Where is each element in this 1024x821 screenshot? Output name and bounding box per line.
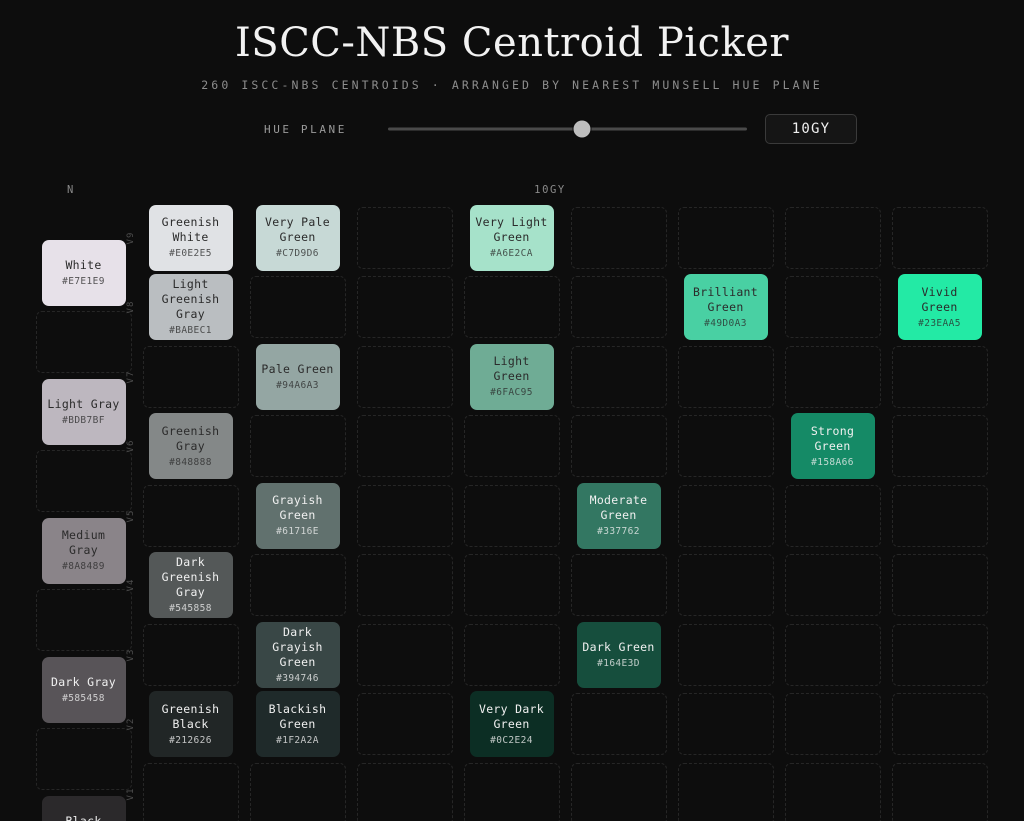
empty-cell — [571, 554, 667, 616]
page-title: ISCC-NBS Centroid Picker — [0, 18, 1024, 68]
empty-cell — [36, 589, 132, 651]
swatch-hex: #8A8489 — [62, 561, 105, 573]
swatch-hex: #1F2A2A — [276, 735, 319, 747]
swatch-name: Light Gray — [47, 397, 119, 412]
swatch-name: Dark Greenish Gray — [154, 555, 228, 600]
swatch-name: White — [65, 258, 101, 273]
swatch-hex: #49D0A3 — [704, 318, 747, 330]
empty-cell — [678, 554, 774, 616]
empty-cell — [892, 346, 988, 408]
empty-cell — [250, 415, 346, 477]
swatch-name: Dark Gray — [51, 675, 116, 690]
page-header: ISCC-NBS Centroid Picker 260 ISCC-NBS CE… — [0, 0, 1024, 92]
empty-cell — [678, 207, 774, 269]
grid-column-headers: N10GY — [30, 184, 988, 203]
swatch-name: Dark Green — [582, 640, 654, 655]
empty-cell — [36, 728, 132, 790]
grid-body: V9V8V7V6V5V4V3V2V1White#E7E1E9Light Gray… — [30, 203, 988, 804]
swatch-name: Blackish Green — [261, 702, 335, 732]
swatch-hex: #BDB7BF — [62, 415, 105, 427]
empty-cell — [357, 485, 453, 547]
centroid-grid: N10GY V9V8V7V6V5V4V3V2V1White#E7E1E9Ligh… — [30, 184, 988, 804]
grid-row-label-v9: V9 — [126, 231, 136, 244]
grid-row-label-v5: V5 — [126, 509, 136, 522]
empty-cell — [785, 554, 881, 616]
empty-cell — [785, 485, 881, 547]
swatch-hex: #BABEC1 — [169, 325, 212, 337]
empty-cell — [678, 485, 774, 547]
color-swatch[interactable]: Grayish Green#61716E — [256, 483, 340, 549]
empty-cell — [892, 485, 988, 547]
empty-cell — [678, 693, 774, 755]
empty-cell — [36, 311, 132, 373]
grid-column-header-10gy: 10GY — [534, 184, 566, 196]
empty-cell — [357, 207, 453, 269]
empty-cell — [464, 485, 560, 547]
swatch-name: Vivid Green — [903, 285, 977, 315]
empty-cell — [785, 276, 881, 338]
color-swatch[interactable]: Strong Green#158A66 — [791, 413, 875, 479]
grid-column-header-n: N — [67, 184, 75, 196]
slider-thumb[interactable] — [573, 121, 590, 138]
swatch-hex: #337762 — [597, 526, 640, 538]
color-swatch[interactable]: Very Pale Green#C7D9D6 — [256, 205, 340, 271]
color-swatch[interactable]: Greenish White#E0E2E5 — [149, 205, 233, 271]
swatch-name: Grayish Green — [261, 493, 335, 523]
swatch-name: Medium Gray — [47, 528, 121, 558]
swatch-hex: #848888 — [169, 457, 212, 469]
empty-cell — [785, 693, 881, 755]
color-swatch[interactable]: Very Light Green#A6E2CA — [470, 205, 554, 271]
grid-row-label-v1: V1 — [126, 787, 136, 800]
empty-cell — [143, 346, 239, 408]
color-swatch[interactable]: Dark Gray#585458 — [42, 657, 126, 723]
color-swatch[interactable]: Greenish Black#212626 — [149, 691, 233, 757]
swatch-name: Very Dark Green — [475, 702, 549, 732]
swatch-hex: #61716E — [276, 526, 319, 538]
empty-cell — [785, 346, 881, 408]
empty-cell — [36, 450, 132, 512]
swatch-name: Dark Grayish Green — [261, 625, 335, 670]
empty-cell — [357, 346, 453, 408]
swatch-hex: #C7D9D6 — [276, 248, 319, 260]
empty-cell — [571, 276, 667, 338]
empty-cell — [785, 763, 881, 821]
swatch-hex: #0C2E24 — [490, 735, 533, 747]
color-swatch[interactable]: Light Green#6FAC95 — [470, 344, 554, 410]
color-swatch[interactable]: White#E7E1E9 — [42, 240, 126, 306]
hue-value-badge: 10GY — [765, 114, 857, 144]
empty-cell — [571, 693, 667, 755]
swatch-name: Moderate Green — [582, 493, 656, 523]
grid-row-label-v8: V8 — [126, 301, 136, 314]
swatch-hex: #545858 — [169, 603, 212, 615]
swatch-name: Pale Green — [261, 362, 333, 377]
color-swatch[interactable]: Light Gray#BDB7BF — [42, 379, 126, 445]
swatch-hex: #23EAA5 — [918, 318, 961, 330]
empty-cell — [892, 624, 988, 686]
swatch-name: Very Light Green — [475, 215, 549, 245]
empty-cell — [678, 624, 774, 686]
swatch-hex: #6FAC95 — [490, 387, 533, 399]
empty-cell — [357, 763, 453, 821]
empty-cell — [892, 763, 988, 821]
color-swatch[interactable]: Dark Grayish Green#394746 — [256, 622, 340, 688]
swatch-name: Very Pale Green — [261, 215, 335, 245]
swatch-name: Greenish Gray — [154, 424, 228, 454]
empty-cell — [785, 207, 881, 269]
swatch-hex: #394746 — [276, 673, 319, 685]
hue-plane-slider[interactable] — [388, 115, 747, 143]
swatch-name: Light Greenish Gray — [154, 277, 228, 322]
swatch-name: Black — [65, 814, 101, 821]
empty-cell — [143, 763, 239, 821]
empty-cell — [571, 415, 667, 477]
control-bar: HUE PLANE 10GY — [0, 112, 1024, 146]
swatch-hex: #A6E2CA — [490, 248, 533, 260]
color-swatch[interactable]: Medium Gray#8A8489 — [42, 518, 126, 584]
empty-cell — [571, 207, 667, 269]
empty-cell — [464, 276, 560, 338]
empty-cell — [892, 554, 988, 616]
empty-cell — [143, 485, 239, 547]
swatch-hex: #94A6A3 — [276, 380, 319, 392]
empty-cell — [892, 415, 988, 477]
swatch-hex: #164E3D — [597, 658, 640, 670]
empty-cell — [143, 624, 239, 686]
swatch-name: Light Green — [475, 354, 549, 384]
color-swatch[interactable]: Greenish Gray#848888 — [149, 413, 233, 479]
empty-cell — [678, 346, 774, 408]
empty-cell — [892, 207, 988, 269]
color-swatch[interactable]: Blackish Green#1F2A2A — [256, 691, 340, 757]
swatch-hex: #E0E2E5 — [169, 248, 212, 260]
grid-row-label-v6: V6 — [126, 440, 136, 453]
color-swatch[interactable]: Pale Green#94A6A3 — [256, 344, 340, 410]
grid-row-label-v3: V3 — [126, 648, 136, 661]
empty-cell — [785, 624, 881, 686]
empty-cell — [357, 276, 453, 338]
color-swatch[interactable]: Vivid Green#23EAA5 — [898, 274, 982, 340]
page-subtitle: 260 ISCC-NBS CENTROIDS · ARRANGED BY NEA… — [0, 78, 1024, 92]
color-swatch[interactable]: Black#2B292B — [42, 796, 126, 821]
color-swatch[interactable]: Moderate Green#337762 — [577, 483, 661, 549]
color-swatch[interactable]: Very Dark Green#0C2E24 — [470, 691, 554, 757]
empty-cell — [250, 276, 346, 338]
swatch-name: Greenish Black — [154, 702, 228, 732]
swatch-name: Strong Green — [796, 424, 870, 454]
empty-cell — [357, 693, 453, 755]
swatch-hex: #E7E1E9 — [62, 276, 105, 288]
swatch-name: Brilliant Green — [689, 285, 763, 315]
empty-cell — [464, 415, 560, 477]
hue-plane-label: HUE PLANE — [167, 123, 347, 136]
empty-cell — [678, 763, 774, 821]
slider-track[interactable] — [388, 128, 747, 131]
empty-cell — [250, 763, 346, 821]
empty-cell — [464, 554, 560, 616]
empty-cell — [464, 624, 560, 686]
empty-cell — [357, 624, 453, 686]
color-swatch[interactable]: Light Greenish Gray#BABEC1 — [149, 274, 233, 340]
empty-cell — [357, 415, 453, 477]
grid-row-label-v4: V4 — [126, 579, 136, 592]
color-swatch[interactable]: Brilliant Green#49D0A3 — [684, 274, 768, 340]
grid-row-label-v2: V2 — [126, 718, 136, 731]
empty-cell — [678, 415, 774, 477]
empty-cell — [571, 763, 667, 821]
empty-cell — [357, 554, 453, 616]
color-swatch[interactable]: Dark Greenish Gray#545858 — [149, 552, 233, 618]
empty-cell — [571, 346, 667, 408]
swatch-hex: #158A66 — [811, 457, 854, 469]
swatch-name: Greenish White — [154, 215, 228, 245]
color-swatch[interactable]: Dark Green#164E3D — [577, 622, 661, 688]
swatch-hex: #585458 — [62, 693, 105, 705]
empty-cell — [250, 554, 346, 616]
grid-row-label-v7: V7 — [126, 370, 136, 383]
empty-cell — [464, 763, 560, 821]
empty-cell — [892, 693, 988, 755]
swatch-hex: #212626 — [169, 735, 212, 747]
